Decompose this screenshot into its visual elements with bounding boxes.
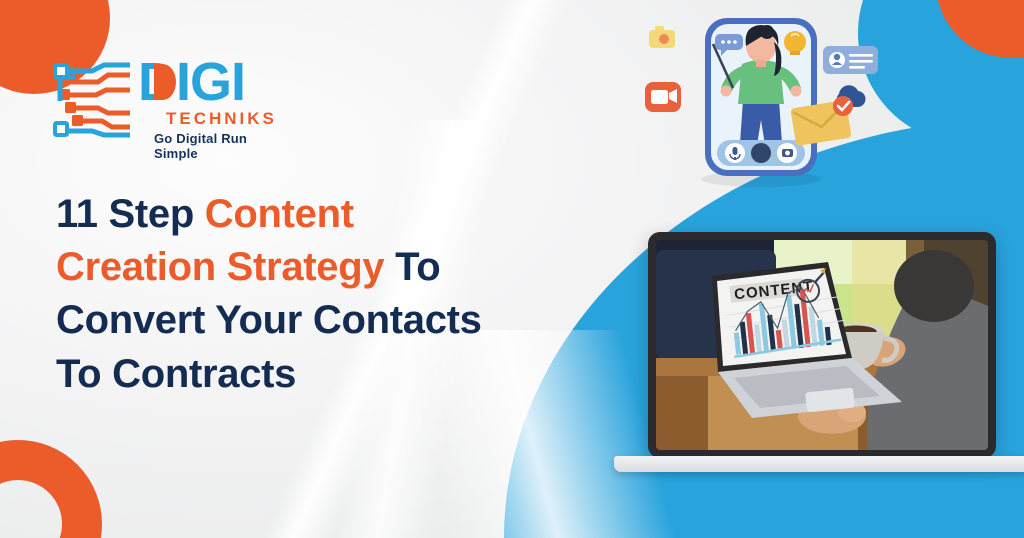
headline-line3: Convert Your Contacts [56,298,482,342]
contact-card-icon [823,46,878,74]
phone-controls [717,140,805,166]
headline-line2-accent: Creation Strategy [56,245,384,289]
logo-tagline: Go Digital Run Simple [154,131,286,161]
laptop-photo-mockup: CONTENT [648,232,996,480]
headline-line2-plain: To [384,245,440,289]
orange-circle-top-right [936,0,1024,58]
page-title: 11 Step Content Creation Strategy To Con… [56,188,646,401]
circuit-board-icon [46,61,142,139]
logo-subtitle: TECHNIKS [166,109,277,129]
laptop-screen-photo: CONTENT [656,240,988,450]
content-creator-phone-illustration [643,8,878,190]
logo-letter-d: D [138,55,176,109]
banner-root: D IGI TECHNIKS Go Digital Run Simple 11 … [0,0,1024,538]
laptop-bezel: CONTENT [648,232,996,458]
laptop-base [614,456,1024,472]
logo-wordmark-rest: IGI [176,52,245,112]
headline-line4: To Contracts [56,352,296,396]
video-camera-icon [645,82,681,112]
headline-line1-accent: Content [205,192,354,236]
logo-wordmark: D IGI [138,55,245,109]
brand-logo[interactable]: D IGI TECHNIKS Go Digital Run Simple [46,55,286,147]
camera-icon [782,149,793,157]
blue-circle-top-right [858,0,1024,144]
headline-line1-plain: 11 Step [56,192,205,236]
orange-ring-bottom-left [0,440,102,538]
photo-camera-icon [649,26,675,48]
